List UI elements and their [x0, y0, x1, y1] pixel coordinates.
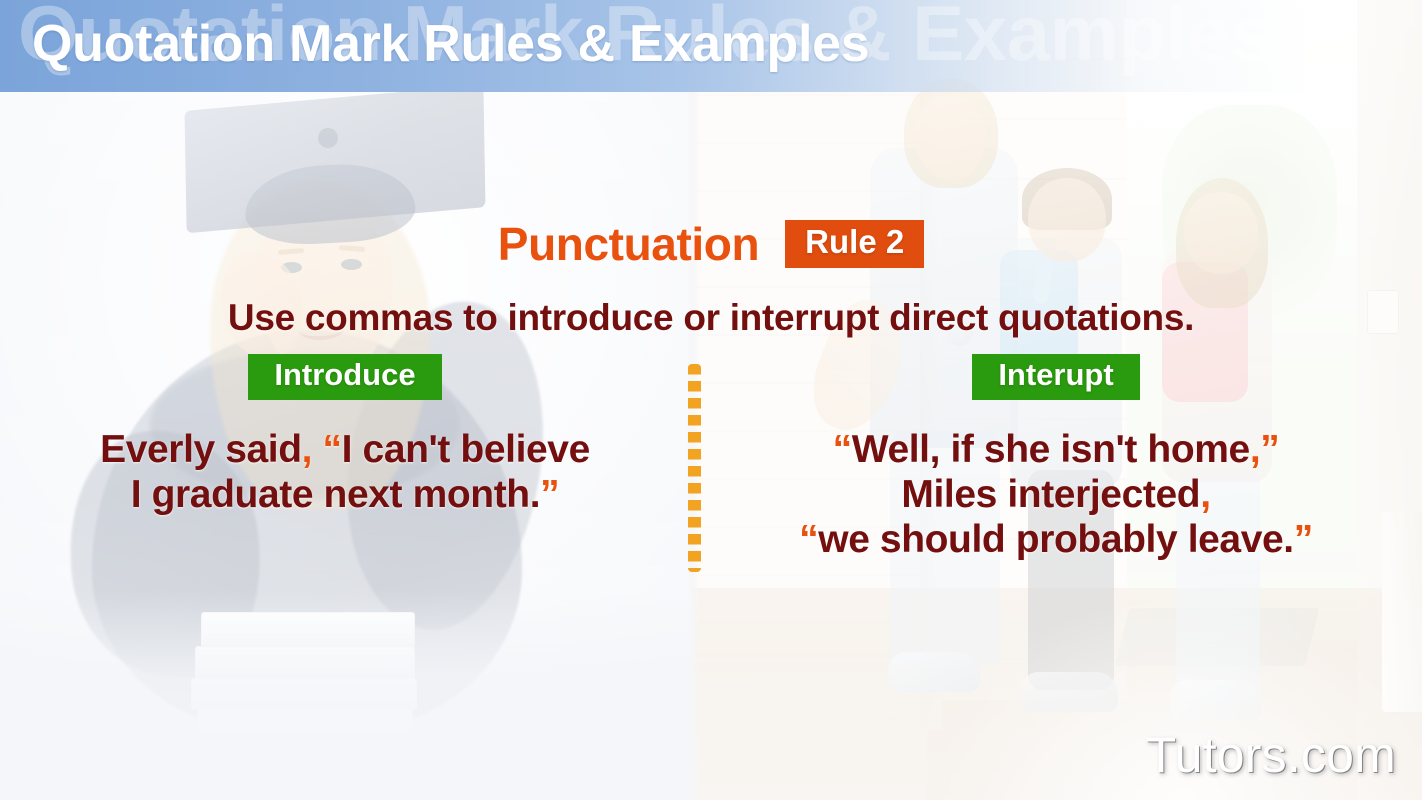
- introduce-example: Everly said, “I can't believeI graduate …: [100, 427, 590, 517]
- punctuation-mark: ,: [302, 428, 312, 471]
- rule-number-badge: Rule 2: [785, 220, 924, 268]
- punctuation-mark: “: [799, 518, 818, 561]
- example-text: Miles interjected: [901, 473, 1200, 516]
- slide: Quotation Mark Rules & Examples Quotatio…: [0, 0, 1422, 800]
- punctuation-mark: ,: [1200, 473, 1210, 516]
- example-line: Everly said, “I can't believe: [100, 427, 590, 472]
- example-text: I can't believe: [342, 428, 590, 471]
- column-interrupt: Interupt “Well, if she isn't home,”Miles…: [690, 354, 1422, 562]
- example-text: we should probably leave.: [818, 518, 1293, 561]
- interrupt-badge: Interupt: [972, 354, 1139, 400]
- introduce-badge: Introduce: [248, 354, 441, 400]
- punctuation-mark: ”: [1294, 518, 1313, 561]
- interrupt-example: “Well, if she isn't home,”Miles interjec…: [799, 427, 1313, 563]
- punctuation-mark: ”: [1260, 428, 1279, 471]
- title-bar: Quotation Mark Rules & Examples Quotatio…: [0, 0, 1422, 92]
- category-label: Punctuation: [498, 217, 759, 271]
- punctuation-mark: ,: [1250, 428, 1260, 471]
- example-line: “Well, if she isn't home,”: [799, 427, 1313, 472]
- example-text: [312, 428, 322, 471]
- column-introduce: Introduce Everly said, “I can't believeI…: [0, 354, 690, 562]
- category-header: Punctuation Rule 2: [0, 217, 1422, 271]
- slide-content: Punctuation Rule 2 Use commas to introdu…: [0, 92, 1422, 800]
- rule-statement: Use commas to introduce or interrupt dir…: [0, 297, 1422, 339]
- examples-columns: Introduce Everly said, “I can't believeI…: [0, 354, 1422, 562]
- page-title: Quotation Mark Rules & Examples: [32, 14, 869, 74]
- punctuation-mark: ”: [540, 473, 559, 516]
- punctuation-mark: “: [323, 428, 342, 471]
- brand-logo: Tutors.com: [1146, 726, 1396, 784]
- example-text: Everly said: [100, 428, 302, 471]
- example-text: Well, if she isn't home: [852, 428, 1250, 471]
- example-line: I graduate next month.”: [100, 472, 590, 517]
- example-line: “we should probably leave.”: [799, 517, 1313, 562]
- example-text: I graduate next month.: [131, 473, 540, 516]
- example-line: Miles interjected,: [799, 472, 1313, 517]
- punctuation-mark: “: [833, 428, 852, 471]
